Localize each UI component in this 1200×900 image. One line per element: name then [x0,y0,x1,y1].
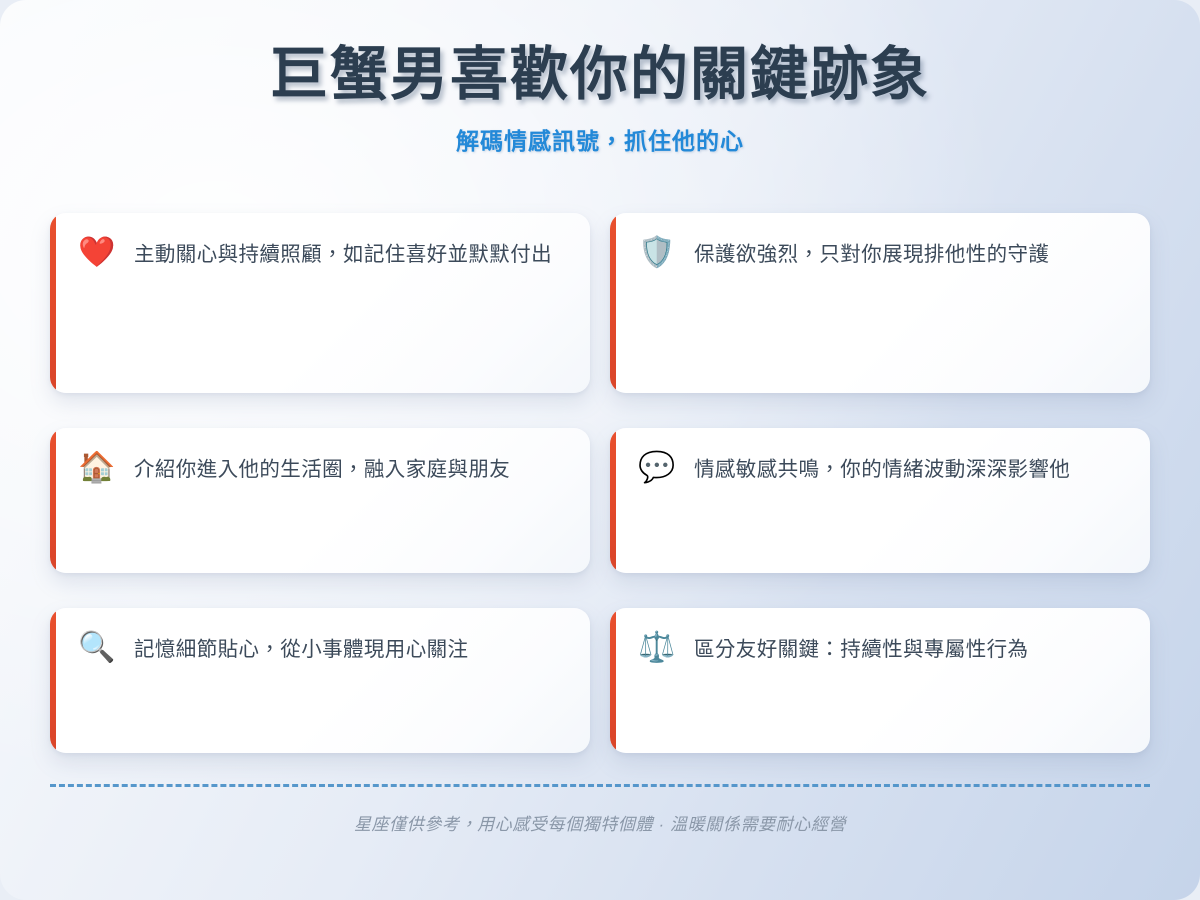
card-accent-bar [610,213,616,393]
card-accent-bar [50,608,56,753]
house-icon: 🏠 [76,453,118,483]
footer-note: 星座僅供參考，用心感受每個獨特個體 · 溫暖關係需要耐心經營 [0,810,1200,835]
sign-card-2[interactable]: 🛡️ 保護欲強烈，只對你展現排他性的守護 [610,213,1150,393]
magnifying-glass-icon: 🔍 [76,633,118,663]
sign-card-text: 區分友好關鍵：持續性與專屬性行為 [694,632,1124,666]
speech-balloon-icon: 💬 [636,453,678,483]
sign-card-grid: ❤️ 主動關心與持續照顧，如記住喜好並默默付出 🛡️ 保護欲強烈，只對你展現排他… [50,213,1150,753]
sign-card-4[interactable]: 💬 情感敏感共鳴，你的情緒波動深深影響他 [610,428,1150,573]
shield-icon: 🛡️ [636,238,678,268]
sign-card-text: 主動關心與持續照顧，如記住喜好並默默付出 [134,237,564,271]
heart-icon: ❤️ [76,238,118,268]
header: 巨蟹男喜歡你的關鍵跡象 解碼情感訊號，抓住他的心 [0,0,1200,156]
sign-card-5[interactable]: 🔍 記憶細節貼心，從小事體現用心關注 [50,608,590,753]
sign-card-3[interactable]: 🏠 介紹你進入他的生活圈，融入家庭與朋友 [50,428,590,573]
card-accent-bar [50,213,56,393]
sign-card-text: 記憶細節貼心，從小事體現用心關注 [134,632,564,666]
sign-card-text: 介紹你進入他的生活圈，融入家庭與朋友 [134,452,564,486]
sign-card-text: 保護欲強烈，只對你展現排他性的守護 [694,237,1124,271]
sign-card-text: 情感敏感共鳴，你的情緒波動深深影響他 [694,452,1124,486]
card-accent-bar [50,428,56,573]
page-title: 巨蟹男喜歡你的關鍵跡象 [0,44,1200,105]
card-accent-bar [610,608,616,753]
page-subtitle: 解碼情感訊號，抓住他的心 [0,122,1200,156]
card-accent-bar [610,428,616,573]
footer-divider [50,784,1150,787]
sign-card-6[interactable]: ⚖️ 區分友好關鍵：持續性與專屬性行為 [610,608,1150,753]
poster-container: 巨蟹男喜歡你的關鍵跡象 解碼情感訊號，抓住他的心 ❤️ 主動關心與持續照顧，如記… [0,0,1200,900]
balance-scale-icon: ⚖️ [636,633,678,663]
sign-card-1[interactable]: ❤️ 主動關心與持續照顧，如記住喜好並默默付出 [50,213,590,393]
